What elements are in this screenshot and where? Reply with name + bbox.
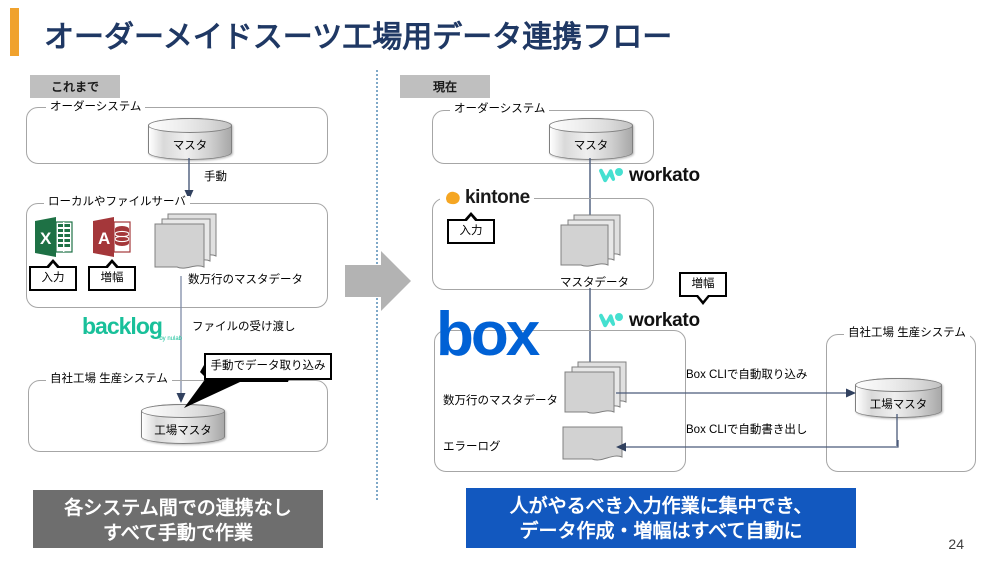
callout-tail-icon xyxy=(104,259,120,268)
section-tag-before: これまで xyxy=(30,75,120,98)
callout-tail-icon xyxy=(45,259,61,268)
before-factory-system-label: 自社工場 生産システム xyxy=(46,373,172,385)
access-icon: A xyxy=(90,215,132,259)
before-summary-line1: 各システム間での連携なし xyxy=(33,496,323,521)
before-file-handoff-label: ファイルの受け渡し xyxy=(192,318,296,334)
now-summary-line2: データ作成・増幅はすべて自動に xyxy=(466,519,856,544)
now-export-label: Box CLIで自動書き出し xyxy=(686,421,807,437)
workato-logo-top: workato xyxy=(598,165,700,187)
before-factory-db-label: 工場マスタ xyxy=(142,422,224,438)
before-master-db: マスタ xyxy=(148,118,232,160)
backlog-logo: backlog by nulab xyxy=(82,313,182,342)
excel-icon: X xyxy=(32,215,74,259)
kintone-logo-text: kintone xyxy=(465,187,530,209)
workato-mark-icon xyxy=(598,311,624,331)
before-callout-input: 入力 xyxy=(29,266,77,291)
now-factory-system-label: 自社工場 生産システム xyxy=(844,327,970,339)
now-master-db: マスタ xyxy=(549,118,633,160)
kintone-mark-icon xyxy=(444,189,462,207)
before-master-db-label: マスタ xyxy=(149,137,231,153)
transition-arrow-icon xyxy=(345,245,417,317)
workato-logo-mid: workato xyxy=(598,310,700,332)
workato-logo-mid-text: workato xyxy=(629,310,700,332)
now-import-arrow xyxy=(616,386,860,400)
section-tag-now: 現在 xyxy=(400,75,490,98)
cylinder-top xyxy=(148,118,232,133)
multi-document-icon xyxy=(150,212,220,278)
now-kintone-docs xyxy=(556,213,626,275)
before-callout-amplify-label: 増幅 xyxy=(101,272,124,284)
before-order-system-label: オーダーシステム xyxy=(46,101,145,113)
now-box-error-log-label: エラーログ xyxy=(443,438,501,454)
now-import-label: Box CLIで自動取り込み xyxy=(686,366,807,382)
before-local-server-label: ローカルやファイルサーバ xyxy=(44,196,190,208)
kintone-logo: kintone xyxy=(440,187,534,209)
callout-tail-icon xyxy=(695,295,711,305)
now-summary-line1: 人がやるべき入力作業に集中でき、 xyxy=(466,494,856,519)
before-master-docs xyxy=(150,212,220,278)
page-number: 24 xyxy=(948,536,964,552)
cylinder-top xyxy=(855,378,942,392)
now-kintone-callout-input: 入力 xyxy=(447,219,495,244)
multi-document-icon xyxy=(556,213,626,275)
before-manual-import-label: 手動でデータ取り込み xyxy=(211,360,326,372)
callout-tail-icon xyxy=(463,212,479,221)
title-accent-bar xyxy=(10,8,19,56)
before-manual-import-callout: 手動でデータ取り込み xyxy=(204,353,332,380)
before-manual-label: 手動 xyxy=(204,168,227,184)
svg-text:A: A xyxy=(98,229,110,248)
before-callout-input-label: 入力 xyxy=(42,272,65,284)
now-factory-db-down-line xyxy=(890,414,904,448)
now-factory-db-label: 工場マスタ xyxy=(856,396,941,412)
before-master-docs-label: 数万行のマスタデータ xyxy=(188,271,303,287)
workato-logo-top-text: workato xyxy=(629,165,700,187)
svg-text:X: X xyxy=(40,229,52,248)
now-kintone-callout-input-label: 入力 xyxy=(460,225,483,237)
before-callout-amplify: 増幅 xyxy=(88,266,136,291)
before-summary-line2: すべて手動で作業 xyxy=(33,521,323,546)
cylinder-top xyxy=(549,118,633,133)
now-factory-db: 工場マスタ xyxy=(855,378,942,418)
before-summary-banner: 各システム間での連携なし すべて手動で作業 xyxy=(33,490,323,548)
now-box-master-docs-label: 数万行のマスタデータ xyxy=(443,392,558,408)
page-title: オーダーメイドスーツ工場用データ連携フロー xyxy=(44,12,672,56)
now-export-arrow xyxy=(612,440,902,454)
box-logo: box xyxy=(436,305,537,365)
now-amplify-callout-label: 増幅 xyxy=(692,278,715,290)
now-order-system-label: オーダーシステム xyxy=(450,103,549,115)
now-summary-banner: 人がやるべき入力作業に集中でき、 データ作成・増幅はすべて自動に xyxy=(466,488,856,548)
now-amplify-callout: 増幅 xyxy=(679,272,727,297)
slide-canvas: オーダーメイドスーツ工場用データ連携フロー これまで 現在 オーダーシステム マ… xyxy=(0,0,1000,562)
now-master-db-label: マスタ xyxy=(550,137,632,153)
workato-mark-icon xyxy=(598,166,624,186)
